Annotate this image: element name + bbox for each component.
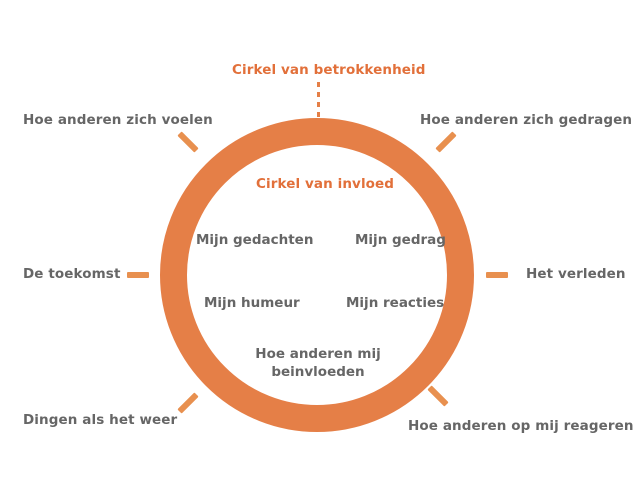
inner-item-how-others-influence-me: Hoe anderen mij beinvloeden — [248, 345, 388, 381]
inner-item-my-behaviour: Mijn gedrag — [355, 231, 446, 249]
outer-item-the-future: De toekomst — [23, 266, 121, 283]
outer-item-the-past: Het verleden — [526, 266, 626, 283]
inner-item-my-thoughts: Mijn gedachten — [196, 231, 313, 249]
tick-mark-bottom-right — [427, 385, 448, 406]
dashed-connector-line — [317, 82, 320, 120]
inner-item-my-reactions: Mijn reacties — [346, 294, 444, 312]
inner-item-my-mood: Mijn humeur — [204, 294, 300, 312]
circle-of-concern-ring — [160, 118, 474, 432]
inner-item-how-others-influence-me-line2: beinvloeden — [271, 364, 364, 380]
tick-mark-top-left — [177, 131, 198, 152]
inner-item-how-others-influence-me-line1: Hoe anderen mij — [255, 346, 380, 362]
outer-item-things-like-the-weather: Dingen als het weer — [23, 412, 177, 429]
tick-mark-top-right — [435, 131, 456, 152]
diagram-canvas: Cirkel van betrokkenheid Cirkel van invl… — [0, 0, 641, 501]
tick-mark-right — [486, 272, 508, 278]
outer-circle-title: Cirkel van betrokkenheid — [232, 62, 426, 78]
outer-item-how-others-feel: Hoe anderen zich voelen — [23, 112, 213, 129]
outer-item-how-others-react-to-me: Hoe anderen op mij reageren — [408, 418, 634, 435]
inner-circle-title: Cirkel van invloed — [256, 176, 394, 192]
tick-mark-left — [127, 272, 149, 278]
outer-item-how-others-behave: Hoe anderen zich gedragen — [420, 112, 632, 129]
tick-mark-bottom-left — [177, 392, 198, 413]
